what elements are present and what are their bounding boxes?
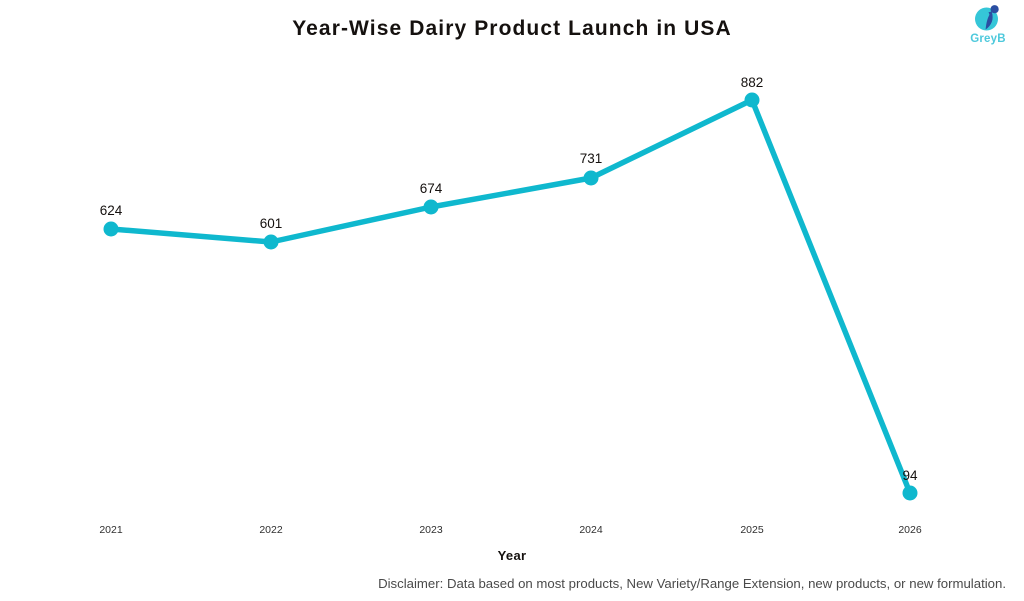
x-axis-title: Year [0,548,1024,563]
data-point-marker[interactable] [584,171,599,186]
series-markers [104,93,918,501]
x-axis-tick-label: 2025 [740,524,763,536]
data-point-label: 94 [902,468,917,483]
data-point-label: 731 [580,151,603,166]
data-point-marker[interactable] [903,486,918,501]
chart-container: Year-Wise Dairy Product Launch in USA Gr… [0,0,1024,601]
data-point-label: 882 [741,75,764,90]
line-chart-plot [0,0,1024,601]
x-axis-tick-label: 2022 [259,524,282,536]
x-axis-tick-label: 2021 [99,524,122,536]
data-point-label: 674 [420,181,443,196]
series-line [111,100,910,493]
data-point-label: 624 [100,203,123,218]
x-axis-tick-label: 2023 [419,524,442,536]
disclaimer-text: Disclaimer: Data based on most products,… [378,576,1006,591]
data-point-marker[interactable] [104,222,119,237]
x-axis-tick-label: 2024 [579,524,602,536]
x-axis-tick-label: 2026 [898,524,921,536]
data-point-marker[interactable] [424,200,439,215]
data-point-marker[interactable] [745,93,760,108]
data-point-label: 601 [260,216,283,231]
data-point-marker[interactable] [264,235,279,250]
